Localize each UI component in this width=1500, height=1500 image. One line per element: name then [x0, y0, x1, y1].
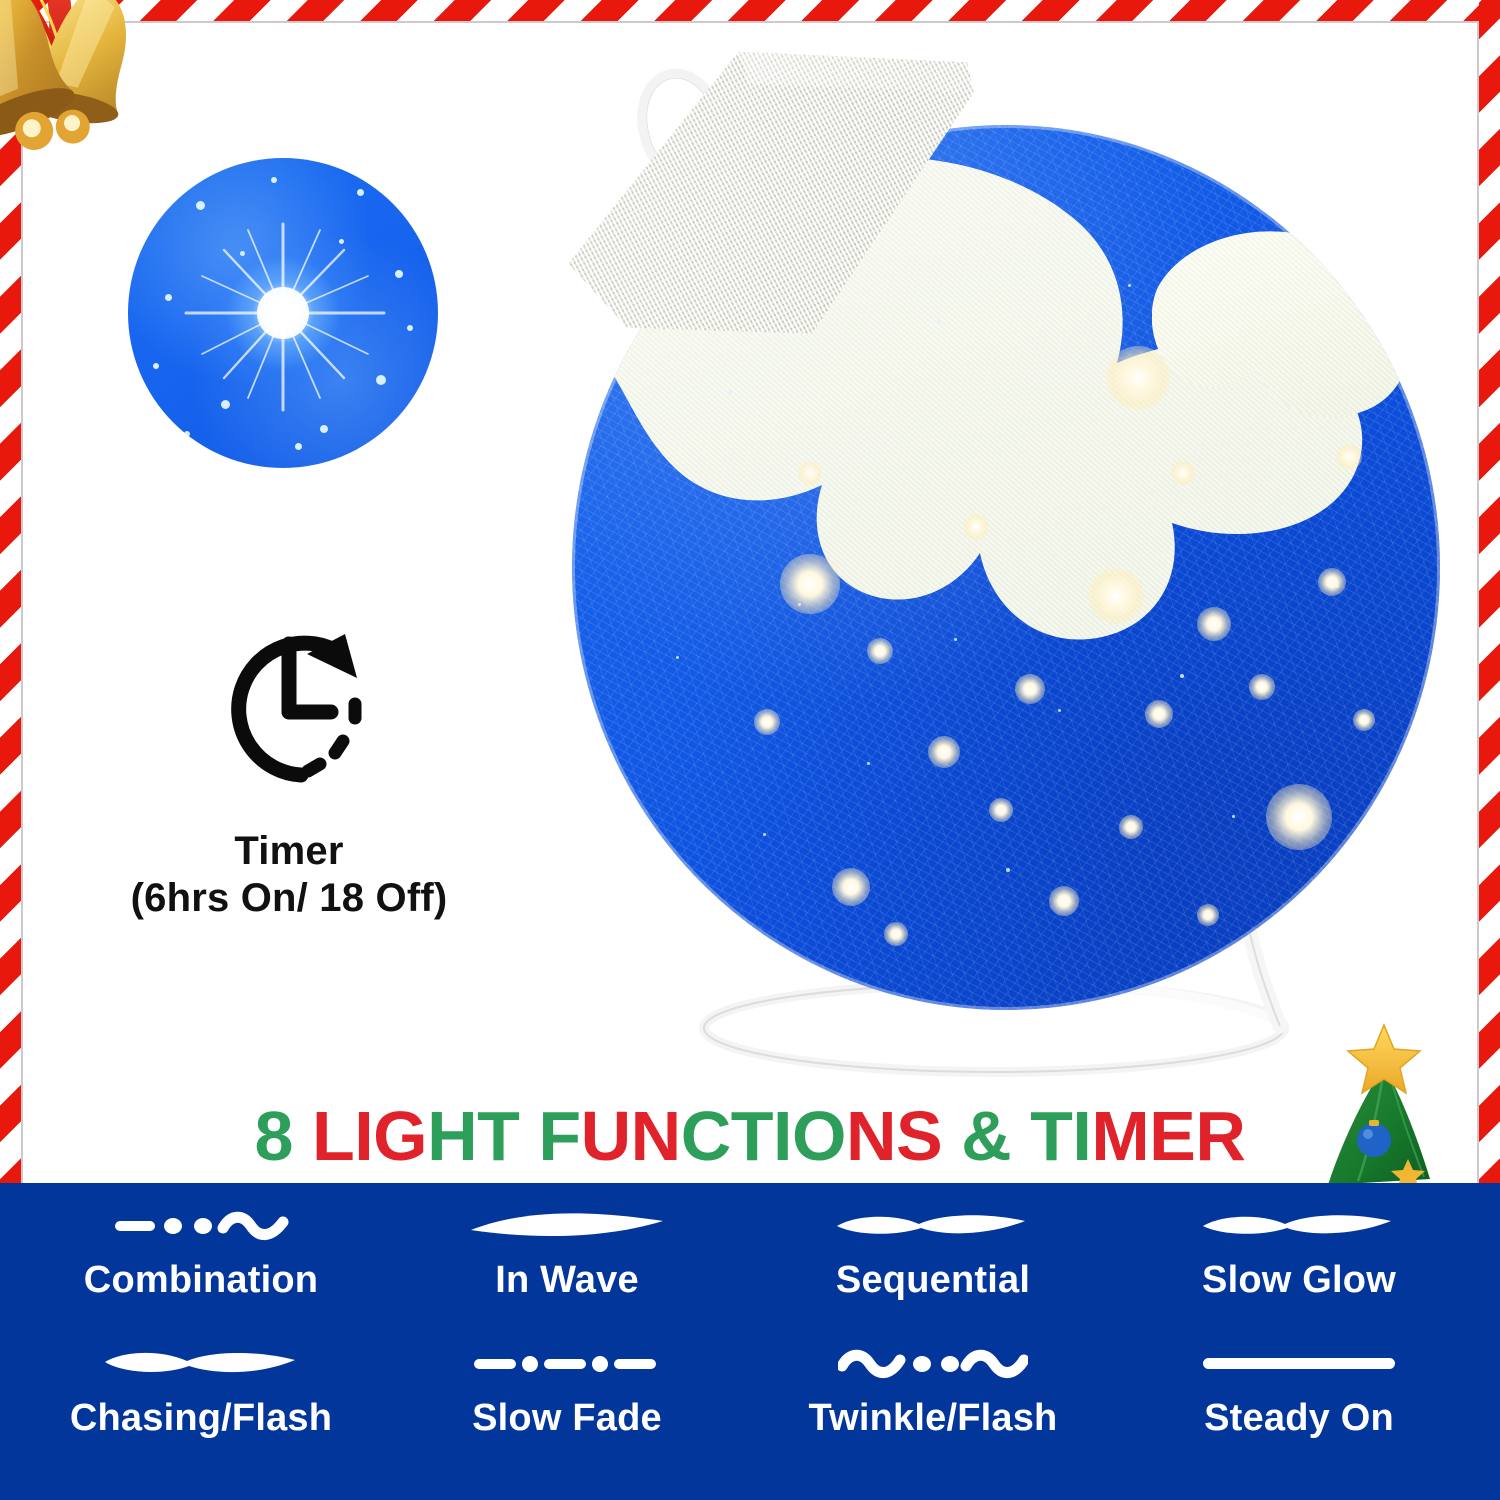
timer-clock-icon — [189, 612, 389, 812]
tilde-dot-dot-tilde-icon — [838, 1343, 1028, 1385]
light-functions-panel: Combination In Wave Sequential — [0, 1183, 1500, 1500]
timer-label: Timer — [104, 828, 474, 875]
double-lens-bowtie-icon — [1199, 1205, 1399, 1247]
function-label: Slow Glow — [1202, 1259, 1396, 1302]
single-lens-wave-icon — [467, 1205, 667, 1247]
border-inner-line-top — [21, 21, 1479, 23]
headline-letter-group: TI — [1030, 1097, 1091, 1175]
headline-letter-group: UN — [581, 1097, 681, 1175]
starburst-rays-icon — [128, 158, 438, 468]
solid-line-icon — [1199, 1343, 1399, 1385]
timer-sub-label: (6hrs On/ 18 Off) — [104, 875, 474, 922]
blue-starburst-light — [128, 158, 438, 468]
function-item-slow-glow: Slow Glow — [1116, 1205, 1482, 1343]
cap-glitter-surface — [560, 47, 980, 352]
function-label: Slow Fade — [472, 1397, 662, 1440]
function-item-combination: Combination — [18, 1205, 384, 1343]
border-inner-line-left — [21, 21, 23, 1195]
headline-letter-group: F — [538, 1097, 580, 1175]
dash-dot-dot-tilde-icon — [111, 1205, 291, 1247]
function-label: Combination — [84, 1259, 318, 1302]
timer-feature-block: Timer (6hrs On/ 18 Off) — [104, 612, 474, 922]
double-lens-bowtie-icon — [101, 1343, 301, 1385]
christmas-bells-icon — [0, 0, 238, 197]
function-item-sequential: Sequential — [750, 1205, 1116, 1343]
headline-letter-group: NS — [846, 1097, 942, 1175]
christmas-tree-icon — [1318, 1023, 1488, 1208]
function-label: Steady On — [1204, 1397, 1394, 1440]
function-item-twinkle-flash: Twinkle/Flash — [750, 1343, 1116, 1481]
function-label: Chasing/Flash — [70, 1397, 332, 1440]
headline-letter-group: ME — [1091, 1097, 1195, 1175]
headline-letter-group: R — [1195, 1097, 1245, 1175]
ornament-silver-cap — [560, 47, 980, 352]
function-item-chasing-flash: Chasing/Flash — [18, 1343, 384, 1481]
headline-letter-group: & — [942, 1097, 1030, 1175]
function-item-slow-fade: Slow Fade — [384, 1343, 750, 1481]
function-label: Twinkle/Flash — [809, 1397, 1058, 1440]
function-item-in-wave: In Wave — [384, 1205, 750, 1343]
function-label: Sequential — [836, 1259, 1030, 1302]
headline-title: 8 LIGHT FUNCTIONS & TIMER — [0, 1096, 1500, 1176]
function-item-steady-on: Steady On — [1116, 1343, 1482, 1481]
border-inner-line-right — [1477, 21, 1479, 1195]
dash-dot-dash-dot-dash-icon — [472, 1343, 662, 1385]
product-infographic: Timer (6hrs On/ 18 Off) — [0, 0, 1500, 1500]
headline-segment: 8 LIGHT FUNCTIONS & TIMER — [255, 1097, 1246, 1175]
function-label: In Wave — [495, 1259, 639, 1302]
headline-letter-group: LIG — [312, 1097, 427, 1175]
product-image — [520, 30, 1420, 1080]
headline-letter-group: HT — [427, 1097, 538, 1175]
headline-letter-group: CTIO — [681, 1097, 846, 1175]
candy-cane-border-right — [1479, 0, 1500, 1195]
functions-grid: Combination In Wave Sequential — [0, 1183, 1500, 1500]
headline-letter-group: 8 — [255, 1097, 312, 1175]
light-effect-swatch — [128, 158, 438, 468]
double-lens-bowtie-icon — [833, 1205, 1033, 1247]
